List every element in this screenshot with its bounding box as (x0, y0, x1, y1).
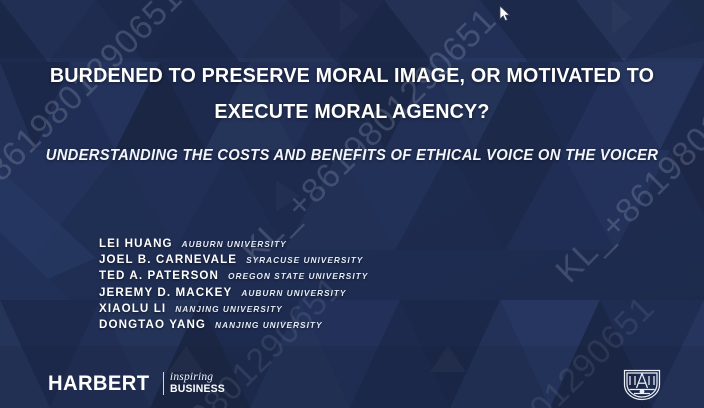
author-affiliation: NANJING UNIVERSITY (215, 320, 322, 330)
author-name: XIAOLU LI (99, 302, 166, 315)
mouse-pointer-icon (499, 5, 511, 23)
author-affiliation: AUBURN UNIVERSITY (182, 239, 287, 249)
list-item: XIAOLU LI NANJING UNIVERSITY (99, 302, 368, 318)
author-affiliation: OREGON STATE UNIVERSITY (228, 271, 368, 281)
list-item: TED A. PATERSON OREGON STATE UNIVERSITY (99, 269, 368, 285)
title-line-1: BURDENED TO PRESERVE MORAL IMAGE, OR MOT… (14, 58, 690, 94)
tagline-business: BUSINESS (170, 384, 225, 395)
logo-divider (163, 372, 164, 395)
author-name: DONGTAO YANG (99, 318, 206, 331)
author-affiliation: AUBURN UNIVERSITY (241, 288, 346, 298)
title-line-2: EXECUTE MORAL AGENCY? (14, 94, 690, 130)
author-affiliation: NANJING UNIVERSITY (175, 304, 282, 314)
title-block: BURDENED TO PRESERVE MORAL IMAGE, OR MOT… (0, 58, 704, 172)
author-name: LEI HUANG (99, 237, 173, 250)
harbert-logo: HARBERT inspiring BUSINESS (48, 371, 228, 396)
list-item: JOEL B. CARNEVALE SYRACUSE UNIVERSITY (99, 253, 368, 269)
author-name: JOEL B. CARNEVALE (99, 253, 237, 266)
author-name: TED A. PATERSON (99, 269, 219, 282)
auburn-au-logo-icon (621, 367, 663, 403)
author-name: JEREMY D. MACKEY (99, 286, 232, 299)
list-item: JEREMY D. MACKEY AUBURN UNIVERSITY (99, 286, 368, 302)
tagline-inspiring: inspiring (170, 372, 228, 384)
harbert-wordmark: HARBERT (48, 371, 149, 396)
presentation-slide: KL_+8619801290651 KL_+8619801290651 KL_+… (0, 0, 704, 408)
author-affiliation: SYRACUSE UNIVERSITY (246, 255, 363, 265)
harbert-tagline: inspiring BUSINESS (170, 372, 228, 396)
author-list: LEI HUANG AUBURN UNIVERSITY JOEL B. CARN… (99, 237, 368, 334)
list-item: LEI HUANG AUBURN UNIVERSITY (99, 237, 368, 253)
subtitle: UNDERSTANDING THE COSTS AND BENEFITS OF … (14, 140, 690, 172)
list-item: DONGTAO YANG NANJING UNIVERSITY (99, 318, 368, 334)
